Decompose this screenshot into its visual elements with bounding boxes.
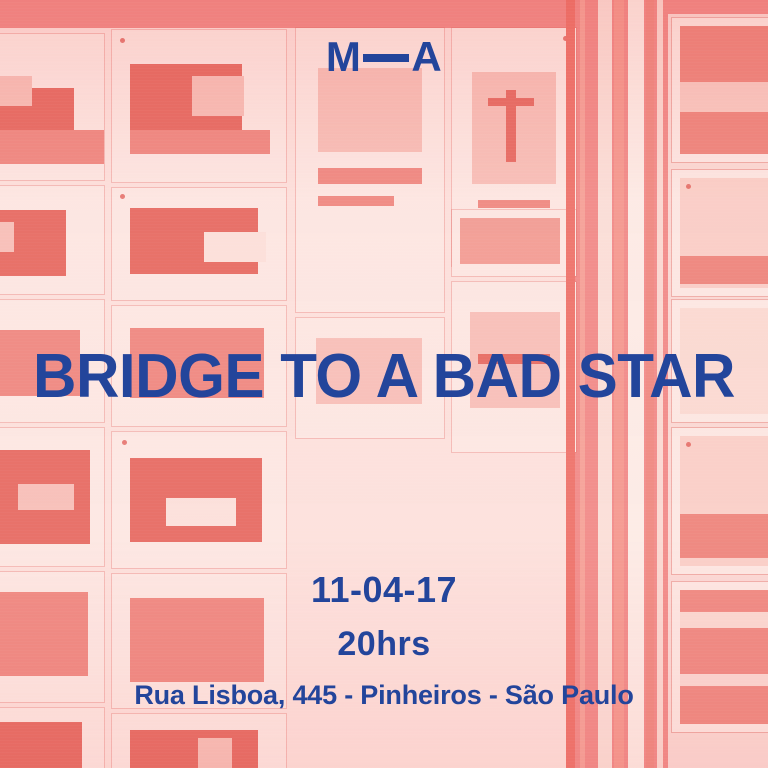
brand-logo: MA	[0, 36, 768, 78]
event-address: Rua Lisboa, 445 - Pinheiros - São Paulo	[0, 682, 768, 709]
brand-right-letter: A	[411, 33, 442, 80]
brand-separator-dash	[363, 54, 409, 62]
brand-left-letter: M	[326, 33, 362, 80]
event-details: 11-04-17 20hrs Rua Lisboa, 445 - Pinheir…	[0, 572, 768, 709]
page-title: BRIDGE TO A BAD STAR	[12, 346, 757, 408]
event-poster: MA BRIDGE TO A BAD STAR 11-04-17 20hrs R…	[0, 0, 768, 768]
event-time: 20hrs	[0, 627, 768, 661]
event-date: 11-04-17	[0, 572, 768, 608]
type-layer: MA BRIDGE TO A BAD STAR 11-04-17 20hrs R…	[0, 0, 768, 768]
